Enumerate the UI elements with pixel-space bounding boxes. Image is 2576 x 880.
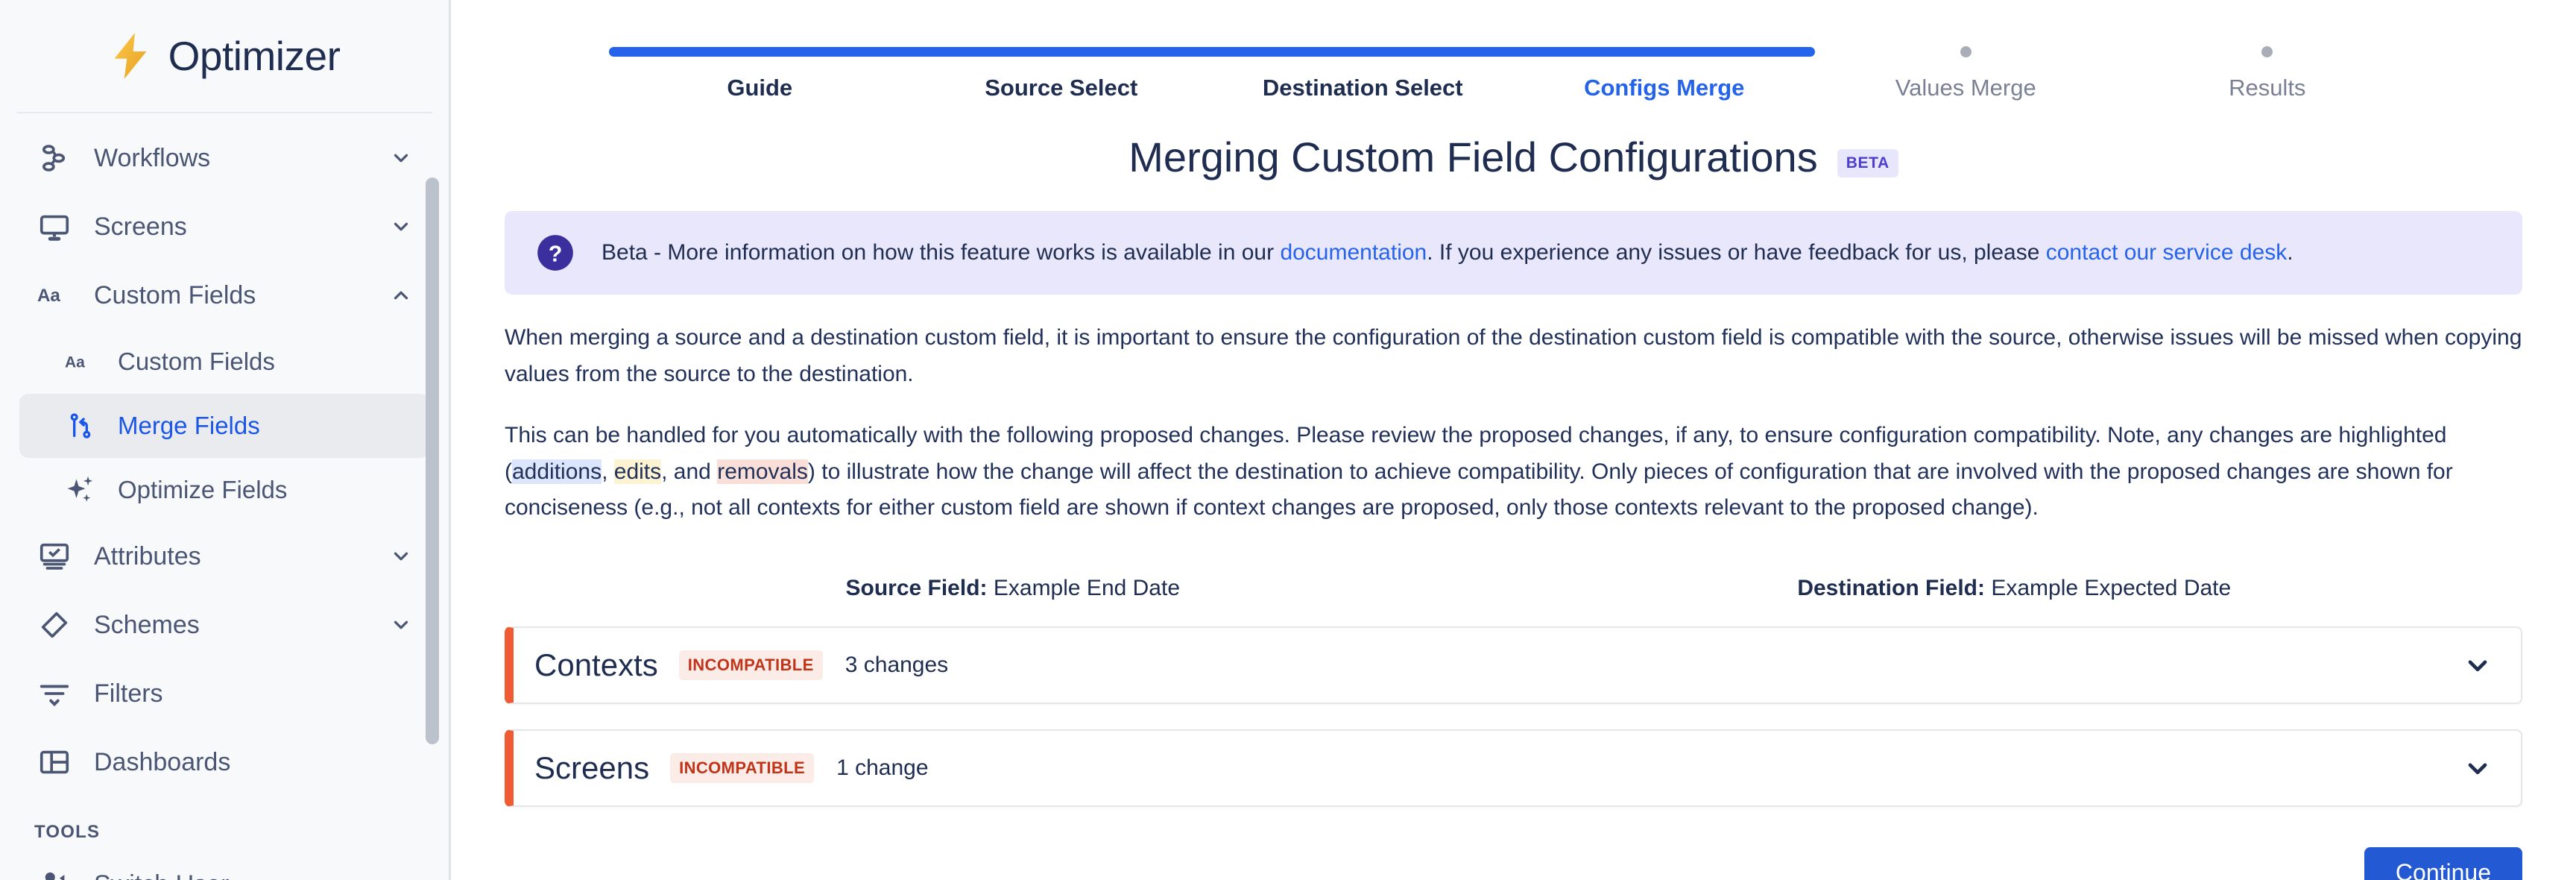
beta-badge: BETA bbox=[1837, 149, 1898, 177]
chevron-down-icon[interactable] bbox=[388, 213, 414, 240]
step-label: Destination Select bbox=[1263, 75, 1463, 101]
sidebar-item-schemes[interactable]: Schemes bbox=[19, 591, 429, 659]
step-progress-bar bbox=[609, 47, 911, 57]
sidebar-item-label: Attributes bbox=[94, 542, 388, 571]
sidebar-item-label: Schemes bbox=[94, 611, 388, 640]
step-progress-bar bbox=[911, 47, 1213, 57]
source-field-value: Example End Date bbox=[994, 576, 1180, 600]
changes-count: 3 changes bbox=[845, 653, 948, 678]
attributes-stack-icon bbox=[34, 536, 75, 576]
intro-paragraph: When merging a source and a destination … bbox=[505, 320, 2522, 392]
main-content: Guide Source Select Destination Select C… bbox=[451, 0, 2576, 880]
status-badge: INCOMPATIBLE bbox=[679, 650, 823, 680]
destination-field-label: Destination Field: bbox=[1797, 576, 1985, 600]
banner-text: Beta - More information on how this feat… bbox=[602, 237, 2294, 268]
sidebar-scrollbar[interactable] bbox=[426, 177, 439, 744]
brand-name: Optimizer bbox=[168, 32, 341, 80]
tools-section-heading: TOOLS bbox=[34, 822, 449, 843]
accordion-title: Screens bbox=[534, 750, 649, 786]
chevron-down-icon[interactable] bbox=[2461, 649, 2494, 682]
documentation-link[interactable]: documentation bbox=[1280, 240, 1427, 265]
step-label: Source Select bbox=[985, 75, 1137, 101]
page-title: Merging Custom Field Configurations bbox=[1128, 133, 1817, 181]
lightning-bolt-icon bbox=[109, 33, 152, 79]
sidebar-item-label: Workflows bbox=[94, 144, 388, 173]
sidebar-item-label: Filters bbox=[94, 679, 414, 708]
service-desk-link[interactable]: contact our service desk bbox=[2046, 240, 2287, 265]
question-circle-icon: ? bbox=[536, 233, 575, 272]
step-configs-merge[interactable]: Configs Merge bbox=[1514, 46, 1816, 101]
accordion-contexts[interactable]: Contexts INCOMPATIBLE 3 changes bbox=[505, 626, 2522, 704]
merge-branch-icon bbox=[63, 408, 98, 444]
step-dot bbox=[1960, 46, 1972, 57]
sidebar-item-label: Dashboards bbox=[94, 748, 414, 777]
switch-user-icon bbox=[34, 864, 75, 880]
sidebar-item-label: Screens bbox=[94, 213, 388, 242]
brand-header[interactable]: Optimizer bbox=[16, 0, 432, 113]
step-progress-bar bbox=[1212, 47, 1514, 57]
accordion-screens[interactable]: Screens INCOMPATIBLE 1 change bbox=[505, 729, 2522, 807]
sidebar-item-filters[interactable]: Filters bbox=[19, 659, 429, 728]
sidebar-item-dashboards[interactable]: Dashboards bbox=[19, 728, 429, 796]
sidebar-nav: Workflows Screens bbox=[0, 113, 449, 880]
accordion-title: Contexts bbox=[534, 647, 658, 683]
text-aa-icon: Aa bbox=[63, 344, 98, 380]
text-aa-icon: Aa bbox=[34, 275, 75, 315]
sidebar-item-optimize-fields[interactable]: Optimize Fields bbox=[19, 458, 429, 522]
monitor-icon bbox=[34, 207, 75, 247]
step-progress-bar bbox=[1514, 47, 1816, 57]
step-values-merge[interactable]: Values Merge bbox=[1815, 46, 2117, 101]
app-root: Optimizer Workflows bbox=[0, 0, 2576, 880]
step-guide[interactable]: Guide bbox=[609, 46, 911, 101]
chevron-down-icon[interactable] bbox=[2461, 752, 2494, 785]
sidebar-item-workflows[interactable]: Workflows bbox=[19, 124, 429, 192]
sidebar-item-label: Switch User bbox=[94, 870, 414, 880]
step-label: Configs Merge bbox=[1584, 75, 1744, 101]
step-source-select[interactable]: Source Select bbox=[911, 46, 1213, 101]
changes-count: 1 change bbox=[836, 755, 928, 781]
destination-field-summary: Destination Field: Example Expected Date bbox=[1514, 576, 2516, 601]
destination-field-value: Example Expected Date bbox=[1991, 576, 2231, 600]
beta-info-banner: ? Beta - More information on how this fe… bbox=[505, 211, 2522, 295]
sidebar-item-merge-fields[interactable]: Merge Fields bbox=[19, 394, 429, 458]
step-destination-select[interactable]: Destination Select bbox=[1212, 46, 1514, 101]
banner-text-2: . If you experience any issues or have f… bbox=[1427, 240, 2045, 265]
page-title-row: Merging Custom Field Configurations BETA bbox=[505, 133, 2522, 181]
svg-text:?: ? bbox=[549, 242, 563, 266]
banner-text-3: . bbox=[2287, 240, 2293, 265]
svg-text:Aa: Aa bbox=[65, 353, 85, 371]
tag-icon bbox=[34, 605, 75, 645]
highlight-removals: removals bbox=[717, 459, 808, 484]
continue-button[interactable]: Continue bbox=[2364, 847, 2522, 880]
dashboard-layout-icon bbox=[34, 742, 75, 782]
sidebar-item-label: Custom Fields bbox=[94, 281, 388, 310]
sidebar-item-screens[interactable]: Screens bbox=[19, 192, 429, 261]
status-badge: INCOMPATIBLE bbox=[670, 753, 814, 783]
highlight-edits: edits bbox=[614, 459, 661, 484]
sparkles-icon bbox=[63, 472, 98, 508]
sidebar-item-label: Custom Fields bbox=[118, 348, 275, 376]
chevron-down-icon[interactable] bbox=[388, 145, 414, 172]
highlight-additions: additions bbox=[512, 459, 602, 484]
sidebar-item-attributes[interactable]: Attributes bbox=[19, 522, 429, 591]
chevron-down-icon[interactable] bbox=[388, 543, 414, 570]
workflow-nodes-icon bbox=[34, 138, 75, 178]
step-label: Values Merge bbox=[1895, 75, 2036, 101]
sidebar-item-label: Optimize Fields bbox=[118, 476, 287, 504]
sidebar-item-custom-fields-child[interactable]: Aa Custom Fields bbox=[19, 330, 429, 394]
chevron-up-icon[interactable] bbox=[388, 282, 414, 309]
source-field-summary: Source Field: Example End Date bbox=[512, 576, 1514, 601]
changes-text-2: , bbox=[602, 459, 614, 484]
svg-text:Aa: Aa bbox=[37, 286, 60, 306]
source-field-label: Source Field: bbox=[845, 576, 987, 600]
changes-text-3: , and bbox=[661, 459, 717, 484]
filter-icon bbox=[34, 673, 75, 714]
sidebar-item-label: Merge Fields bbox=[118, 412, 260, 440]
banner-text-1: Beta - More information on how this feat… bbox=[602, 240, 1280, 265]
sidebar-item-custom-fields[interactable]: Aa Custom Fields bbox=[19, 261, 429, 330]
step-label: Guide bbox=[727, 75, 792, 101]
step-label: Results bbox=[2229, 75, 2305, 101]
changes-paragraph: This can be handled for you automaticall… bbox=[505, 418, 2522, 527]
step-dot bbox=[2261, 46, 2273, 57]
sidebar-item-switch-user[interactable]: Switch User bbox=[19, 850, 429, 880]
sidebar: Optimizer Workflows bbox=[0, 0, 451, 880]
field-summary-row: Source Field: Example End Date Destinati… bbox=[505, 576, 2522, 601]
chevron-down-icon[interactable] bbox=[388, 612, 414, 638]
footer-actions: Continue bbox=[505, 847, 2522, 880]
wizard-stepper: Guide Source Select Destination Select C… bbox=[609, 46, 2418, 101]
step-results[interactable]: Results bbox=[2117, 46, 2419, 101]
